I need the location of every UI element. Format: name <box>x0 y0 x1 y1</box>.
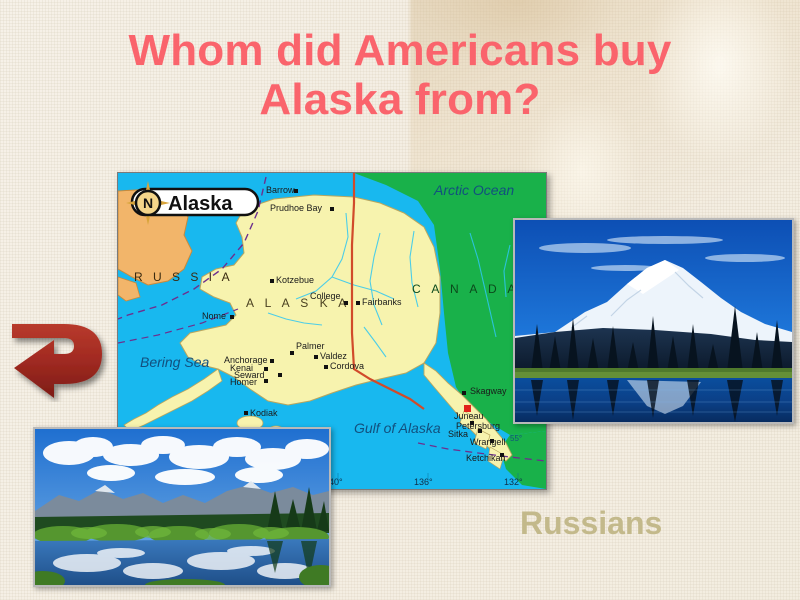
map-label-prudhoe-bay: Prudhoe Bay <box>270 203 323 213</box>
map-label-cordova: Cordova <box>330 361 364 371</box>
map-label-kodiak: Kodiak <box>250 408 278 418</box>
map-label-gulf-of-alaska: Gulf of Alaska <box>354 420 441 436</box>
page-title: Whom did Americans buy Alaska from? <box>40 26 760 125</box>
map-label-bering-sea: Bering Sea <box>140 354 209 370</box>
map-label-russia: R U S S I A <box>134 270 233 284</box>
map-label-latitude-55: 55° <box>510 434 522 443</box>
title-line-2: Alaska from? <box>40 75 760 124</box>
mountain-lake-photo <box>33 427 331 587</box>
map-label-ketchikan: Ketchikan <box>466 453 506 463</box>
map-longitude-132: 132° <box>504 477 523 487</box>
map-label-skagway: Skagway <box>470 386 507 396</box>
title-line-1: Whom did Americans buy <box>40 26 760 75</box>
denali-mountain-photo <box>513 218 794 424</box>
map-label-kotzebue: Kotzebue <box>276 275 314 285</box>
map-label-canada: C A N A D A <box>412 282 519 296</box>
answer-text: Russians <box>520 505 780 542</box>
map-label-homer: Homer <box>230 377 257 387</box>
map-label-nome: Nome <box>202 311 226 321</box>
map-title-text: Alaska <box>168 193 233 215</box>
map-label-valdez: Valdez <box>320 351 347 361</box>
map-label-college: College <box>310 291 341 301</box>
map-label-arctic-ocean: Arctic Ocean <box>433 182 514 198</box>
map-label-juneau: Juneau <box>454 411 484 421</box>
map-longitude-136: 136° <box>414 477 433 487</box>
map-label-sitka: Sitka <box>448 429 468 439</box>
return-arrow-icon <box>4 306 112 402</box>
map-label-wrangell: Wrangell <box>470 437 505 447</box>
map-label-fairbanks: Fairbanks <box>362 297 402 307</box>
compass-north-letter: N <box>143 195 153 211</box>
map-label-barrow: Barrow <box>266 185 295 195</box>
slide-canvas: Whom did Americans buy Alaska from? <box>0 0 800 600</box>
map-label-palmer: Palmer <box>296 341 325 351</box>
